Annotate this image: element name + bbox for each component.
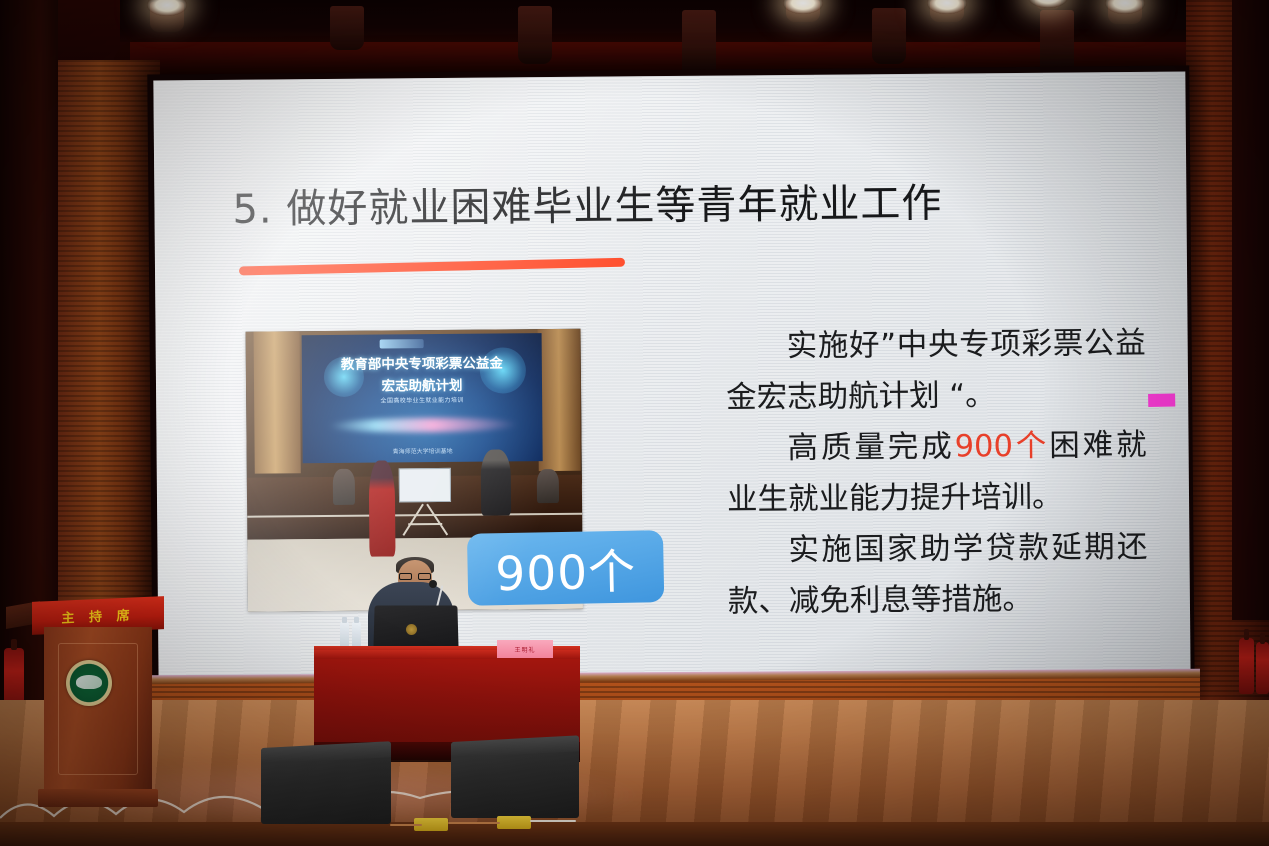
stage-monitor-speaker	[451, 742, 579, 818]
microphone-head-icon	[429, 580, 437, 588]
right-wall-shadow	[1232, 0, 1269, 620]
glasses-icon	[399, 573, 431, 580]
stage-light-icon	[1108, 0, 1142, 24]
auditorium-scene: 5. 做好就业困难毕业生等青年就业工作 教育部中央专项彩票公益金 宏志助航计划 …	[0, 0, 1269, 846]
monitor-wire	[390, 824, 422, 826]
laptop-icon	[373, 605, 458, 650]
university-emblem-icon	[66, 660, 112, 706]
slide-body-paragraph-1: 实施好”中央专项彩票公益金宏志助航计划 “。	[725, 318, 1146, 424]
left-wall-shadow	[0, 0, 58, 700]
title-underline-rule	[239, 258, 625, 276]
slide-body-paragraph-2: 高质量完成900个困难就业生就业能力提升培训。	[726, 420, 1147, 526]
photo-easel-legs-icon	[397, 502, 453, 536]
photo-caption-line-3: 全国高校毕业生就业能力培训	[314, 394, 530, 405]
photo-display-board	[399, 468, 451, 502]
photo-person-red-dress	[369, 460, 396, 556]
photo-led-backdrop: 教育部中央专项彩票公益金 宏志助航计划 全国高校毕业生就业能力培训 青海师范大学…	[302, 333, 543, 463]
stage-light-icon	[150, 2, 184, 32]
para2-segment-1: 高质量完成	[787, 430, 954, 466]
photo-pillar-right	[538, 329, 581, 471]
photo-pillar-left	[254, 331, 301, 473]
fire-extinguisher-icon	[1239, 638, 1254, 694]
stage-light-icon	[930, 0, 964, 22]
photo-person-seated-far-right	[537, 469, 559, 503]
stage-light-icon	[330, 6, 364, 50]
cable-junction-box	[497, 816, 531, 829]
stage-monitor-speaker	[261, 748, 391, 824]
podium-label: 主 持 席	[61, 604, 134, 626]
pink-marker-artifact	[1148, 393, 1175, 406]
stage-light-icon	[518, 6, 552, 64]
stage-light-icon	[786, 0, 820, 22]
podium-body	[44, 627, 152, 797]
photo-person-standing-right	[481, 449, 512, 515]
podium-base	[38, 789, 158, 807]
statistic-badge: 900个	[467, 530, 664, 606]
projection-screen: 5. 做好就业困难毕业生等青年就业工作 教育部中央专项彩票公益金 宏志助航计划 …	[153, 72, 1190, 693]
slide-title: 5. 做好就业困难毕业生等青年就业工作	[232, 184, 942, 230]
para2-highlight-900: 900个	[955, 429, 1050, 465]
fire-extinguisher-icon	[1256, 642, 1269, 694]
monitor-wire	[448, 822, 500, 824]
stage-front-edge	[0, 822, 1269, 846]
photo-person-seated-left	[333, 469, 355, 505]
stage-light-icon	[872, 8, 906, 64]
photo-caption-line-1: 教育部中央专项彩票公益金	[314, 351, 530, 373]
slide-body-text: 实施好”中央专项彩票公益金宏志助航计划 “。 高质量完成900个困难就业生就业能…	[725, 318, 1148, 628]
photo-caption-line-2: 宏志助航计划	[314, 373, 530, 395]
speaker-name-card: 王明礼	[497, 640, 553, 658]
monitor-wire	[530, 820, 576, 822]
photo-org-logo-icon	[380, 339, 424, 348]
slide-body-paragraph-3: 实施国家助学贷款延期还款、减免利息等措施。	[727, 522, 1148, 628]
photo-light-streak	[328, 417, 518, 433]
